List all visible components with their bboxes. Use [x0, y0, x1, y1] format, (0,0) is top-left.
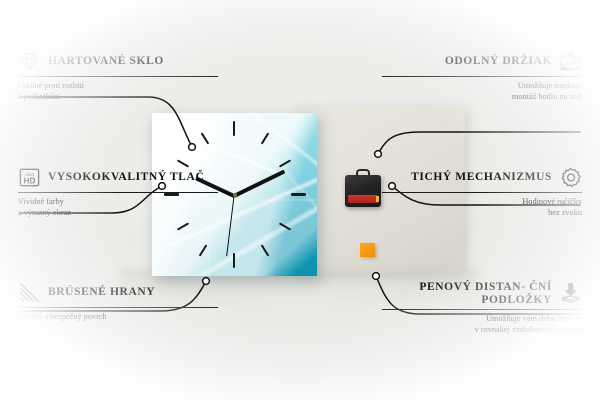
connector-dot-left-1 [189, 144, 196, 151]
feature-header: BRÚSENÉ HRANY [18, 281, 218, 307]
connector-right-1 [378, 132, 580, 154]
connector-left-1 [20, 97, 192, 147]
hd-label: HD [24, 176, 36, 185]
feature-header: TICHÝ MECHANIZMUS [382, 166, 582, 192]
feature-header: ultra HD VYSOKOKVALITNÝ TLAČ [18, 166, 218, 192]
feature-title: VYSOKOKVALITNÝ TLAČ [48, 171, 204, 184]
feature-brusene-hrany: BRÚSENÉ HRANY Hladký a bezpečný povrch [18, 281, 218, 322]
connector-dot-right-1 [375, 151, 382, 158]
feature-title: ODOLNÝ DRŽIAK [445, 55, 552, 68]
feature-description: Umožňuje snadnou montáž hodin na zeď [382, 77, 582, 102]
ultra-hd-icon: ultra HD [18, 166, 41, 189]
foam-pad-icon [559, 282, 582, 305]
picture-hanger-icon [559, 50, 582, 73]
feature-title: TICHÝ MECHANIZMUS [411, 171, 552, 184]
feature-header: PENOVÝ DISTAN- ČNÍ PODLOŽKY [382, 281, 582, 309]
ground-edges-icon [18, 281, 41, 304]
infographic-canvas: HARTOVANÉ SKLO Odolné proti rozbití a po… [0, 0, 600, 400]
feature-title: PENOVÝ DISTAN- ČNÍ PODLOŽKY [382, 281, 552, 306]
feature-title: BRÚSENÉ HRANY [48, 286, 155, 299]
gear-icon [559, 166, 582, 189]
feature-penove-podlozky: PENOVÝ DISTAN- ČNÍ PODLOŽKY Umožňuje vám… [382, 281, 582, 335]
feature-odolny-drziak: ODOLNÝ DRŽIAK Umožňuje snadnou montáž ho… [382, 50, 582, 102]
diamond-icon [18, 50, 41, 73]
feature-description: Hodinové ručičky bez zvuku [382, 193, 582, 218]
feature-description: Hladký a bezpečný povrch [18, 308, 218, 322]
feature-vysokokvalitny-tlac: ultra HD VYSOKOKVALITNÝ TLAČ Vividné far… [18, 166, 218, 218]
feature-header: ODOLNÝ DRŽIAK [382, 50, 582, 76]
feature-description: Odolné proti rozbití a poškrábání [18, 77, 218, 102]
connector-dot-right-3 [373, 273, 380, 280]
feature-tichy-mechanizmus: TICHÝ MECHANIZMUS Hodinové ručičky bez z… [382, 166, 582, 218]
feature-description: Umožňuje vám držať hodiny v rovnakej vzd… [382, 310, 582, 335]
feature-header: HARTOVANÉ SKLO [18, 50, 218, 76]
feature-description: Vividné farby a výrazný obraz [18, 193, 218, 218]
feature-title: HARTOVANÉ SKLO [48, 55, 164, 68]
feature-hartovane-sklo: HARTOVANÉ SKLO Odolné proti rozbití a po… [18, 50, 218, 102]
